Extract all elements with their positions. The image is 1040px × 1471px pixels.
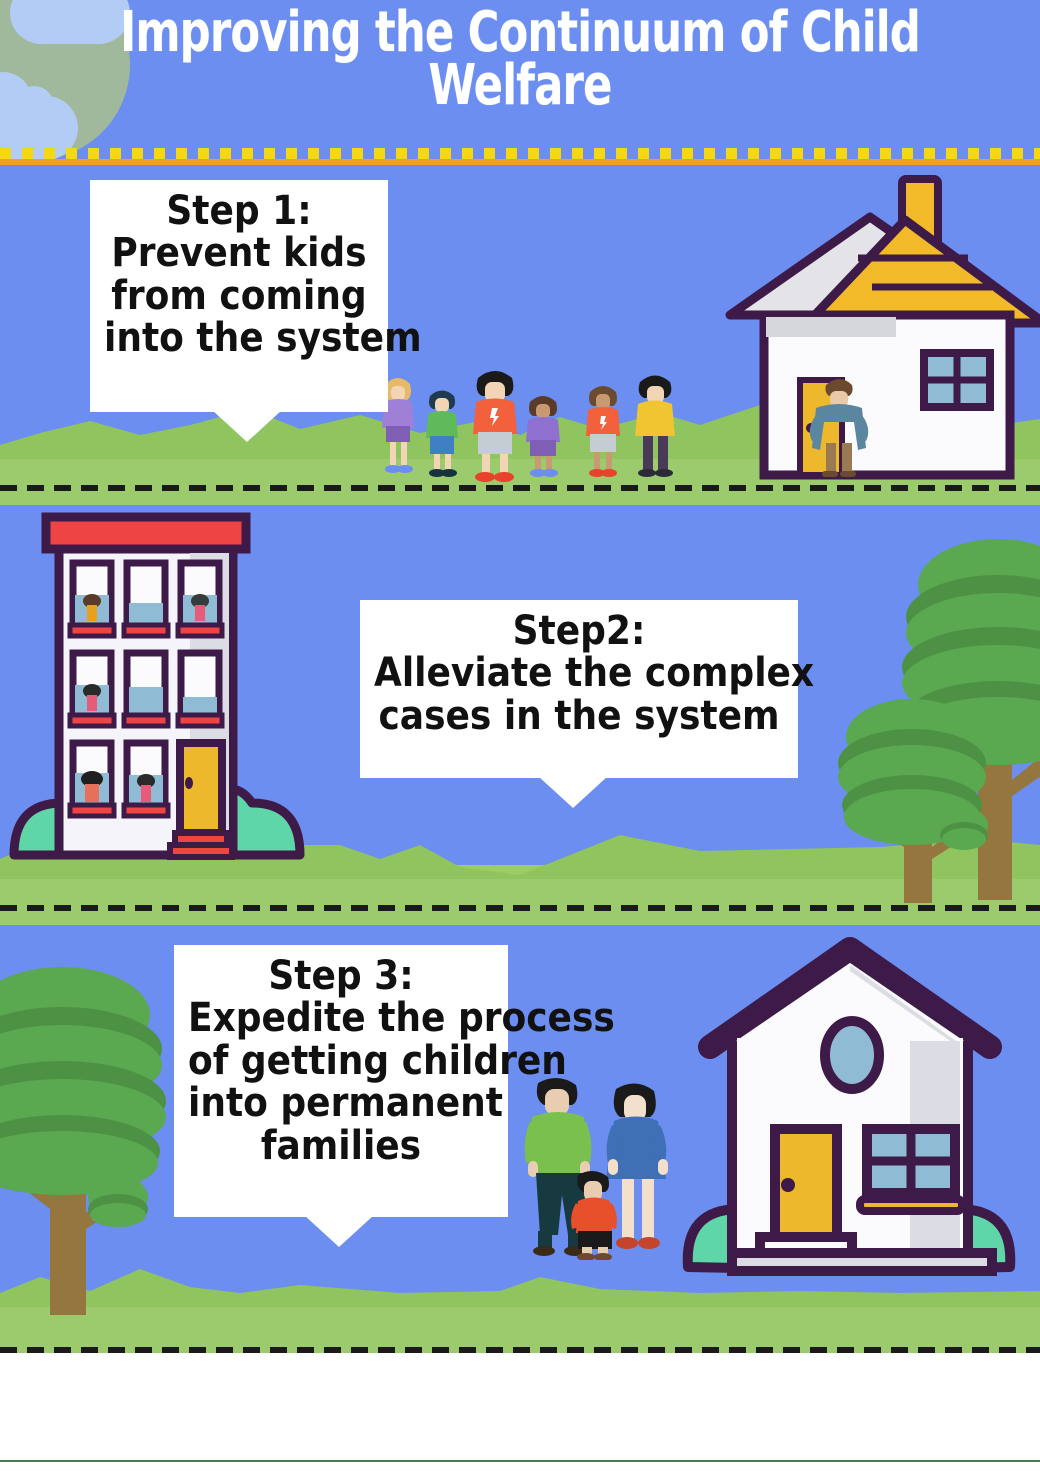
building-window-1	[70, 563, 114, 636]
step-2-line-2: cases in the system	[374, 695, 784, 737]
building-window-7	[70, 743, 114, 816]
door-step-2	[170, 845, 232, 857]
roof-band	[46, 517, 246, 549]
front-door-knob	[781, 1178, 795, 1192]
step-3-line-2: of getting children	[188, 1040, 494, 1082]
apartment-building-illustration	[0, 505, 320, 885]
step-3-line-1: Expedite the process	[188, 997, 494, 1039]
yellow-dashed-divider	[0, 148, 1040, 159]
title-line-2: Welfare	[73, 59, 967, 112]
building-window-5	[124, 653, 168, 726]
tree-left-step3	[0, 945, 190, 1325]
step-1-line-2: from coming	[104, 275, 374, 317]
porch-step-lower	[732, 1253, 992, 1271]
building-window-2	[124, 563, 168, 636]
child-boy-tall-orange	[473, 371, 517, 482]
branch-leaf-cluster	[88, 1176, 148, 1227]
building-window-8	[124, 743, 168, 816]
family-house-illustration	[720, 175, 1040, 485]
section-divider-2	[0, 905, 1040, 911]
callout-step-1[interactable]: Step 1: Prevent kids from coming into th…	[90, 180, 388, 412]
step-1-line-3: into the system	[104, 317, 374, 359]
children-group	[378, 370, 688, 490]
building-window-3	[178, 563, 222, 636]
poster-header: Improving the Continuum of Child Welfare	[0, 0, 1040, 165]
family-group	[516, 1075, 676, 1260]
child-girl-purple	[526, 396, 560, 477]
building-window-6	[178, 653, 222, 726]
footer-rule	[0, 1460, 1040, 1462]
step-3-line-3: into permanent	[188, 1082, 494, 1124]
footer-blank-area	[0, 1353, 1040, 1471]
child-boy-orange	[586, 386, 620, 477]
step-2-line-0: Step2:	[374, 610, 784, 652]
tree-cluster-right	[830, 525, 1040, 905]
step-1-line-1: Prevent kids	[104, 232, 374, 274]
oval-window	[825, 1021, 879, 1089]
tree-short	[838, 699, 986, 903]
step-2-line-1: Alleviate the complex	[374, 652, 784, 694]
child-boy-yellow	[635, 376, 675, 478]
step-1-line-0: Step 1:	[104, 190, 374, 232]
window-row-2	[70, 653, 222, 726]
child-boy-green	[426, 391, 458, 478]
window-row-1	[70, 563, 222, 636]
infographic-poster: Improving the Continuum of Child Welfare	[0, 0, 1040, 1471]
section-step-3	[0, 925, 1040, 1353]
page-title: Improving the Continuum of Child Welfare	[73, 6, 967, 112]
wall-shade	[766, 317, 896, 337]
building-door	[180, 743, 222, 833]
permanent-home-illustration	[660, 937, 1040, 1289]
window-sill	[860, 1199, 962, 1211]
building-door-knob	[185, 777, 193, 789]
callout-step-2[interactable]: Step2: Alleviate the complex cases in th…	[360, 600, 798, 778]
callout-step-3[interactable]: Step 3: Expedite the process of getting …	[174, 945, 508, 1217]
title-line-1: Improving the Continuum of Child	[73, 6, 967, 59]
step-3-line-0: Step 3:	[188, 955, 494, 997]
building-window-4	[70, 653, 114, 726]
step-3-line-4: families	[188, 1125, 494, 1167]
section-divider-1	[0, 485, 1040, 491]
tree-small-branch-leaf	[940, 808, 988, 850]
